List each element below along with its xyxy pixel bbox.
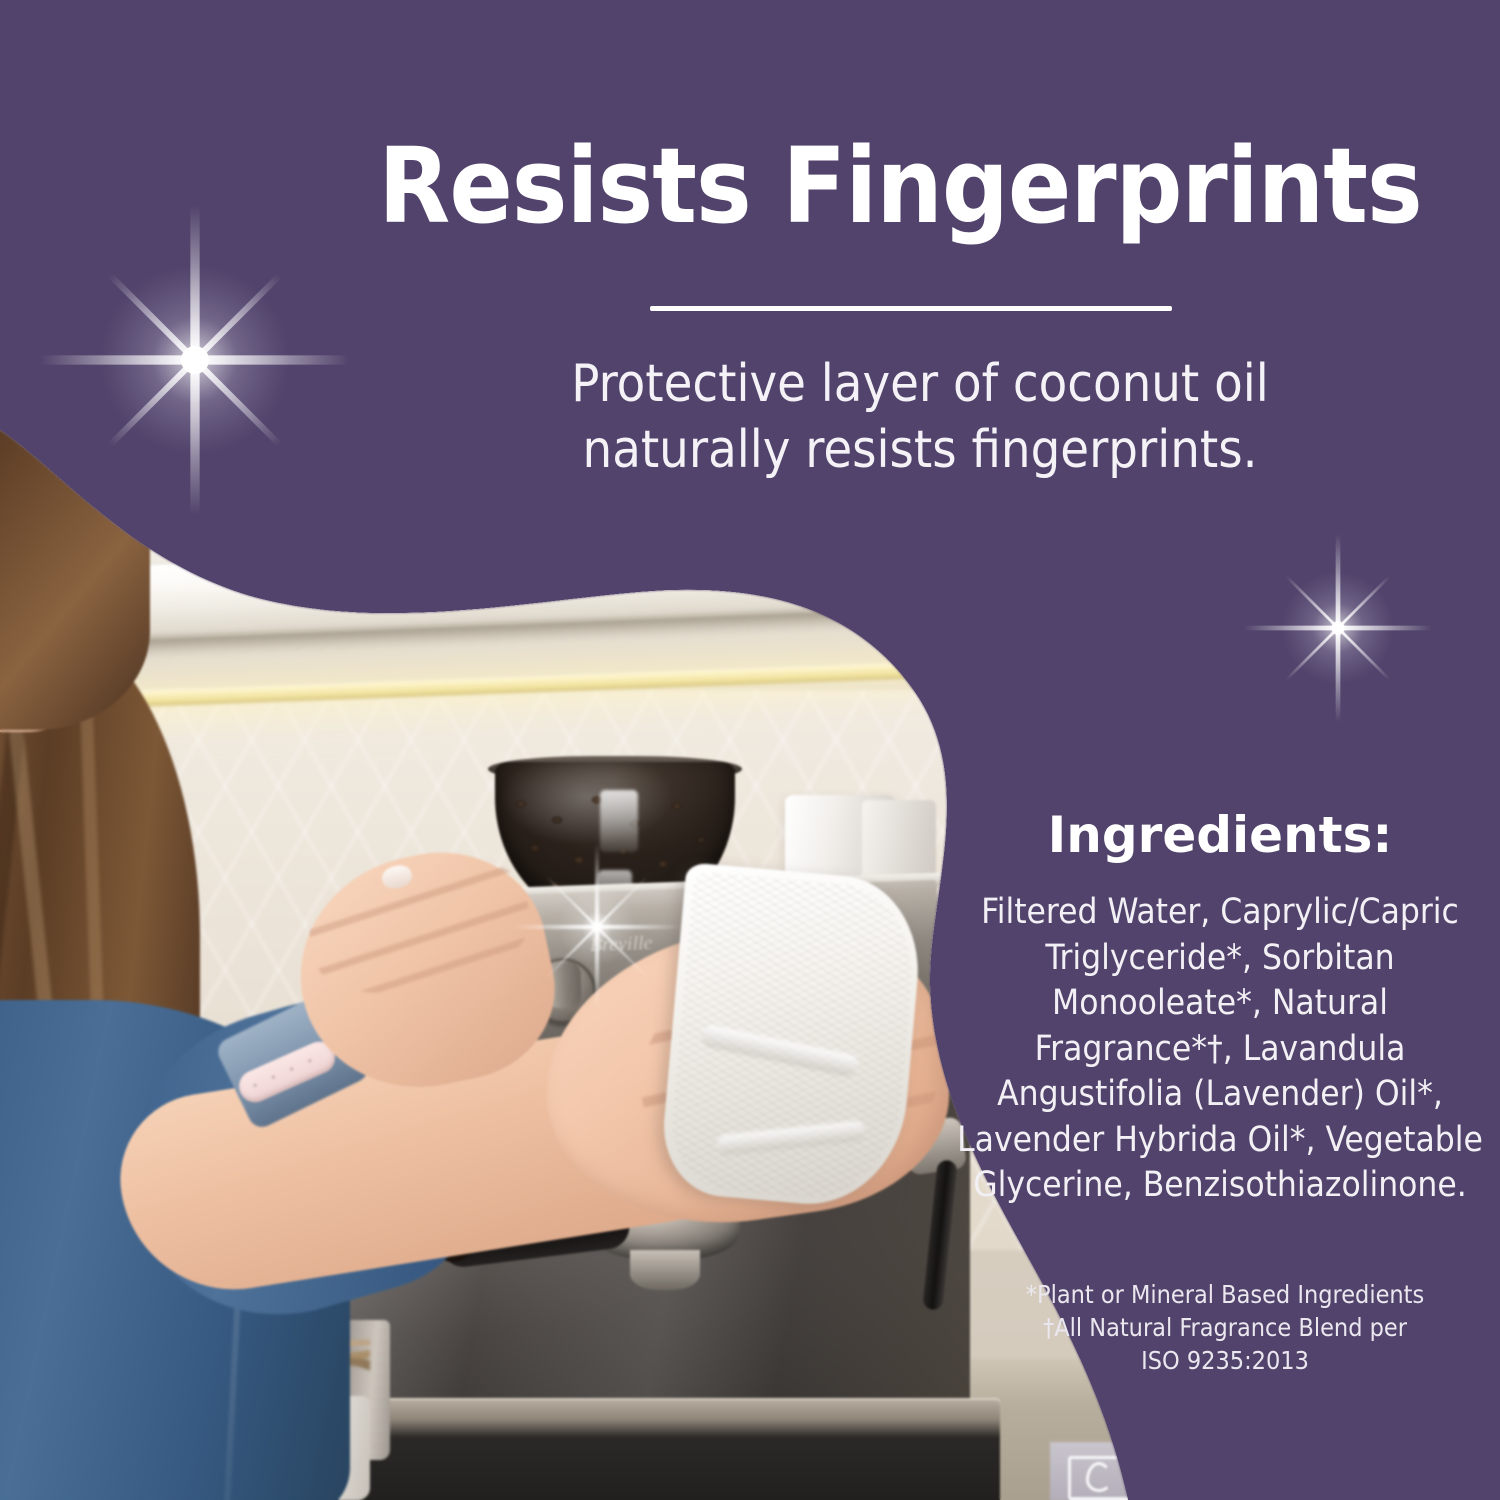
page-title: Resists Fingerprints <box>330 132 1470 252</box>
portafilter-spout <box>630 1250 700 1290</box>
sparkle-icon-top-left <box>40 205 350 515</box>
footnote-fragrance-blend: †All Natural Fragrance Blend per <box>990 1311 1460 1344</box>
subtitle-line-2: naturally resists fingerprints. <box>583 420 1258 480</box>
footnote-iso-standard: ISO 9235:2013 <box>990 1344 1460 1377</box>
sparkle-icon-mid-right <box>1244 534 1432 722</box>
ingredients-heading: Ingredients: <box>960 806 1480 864</box>
infographic-canvas: Breville <box>0 0 1500 1500</box>
ingredient-footnotes: *Plant or Mineral Based Ingredients †All… <box>990 1278 1460 1377</box>
hair-crown <box>0 400 150 730</box>
package-label-outline <box>1068 1456 1160 1500</box>
subtitle-line-1: Protective layer of coconut oil <box>571 354 1268 414</box>
drip-tray <box>300 1400 1000 1500</box>
title-divider <box>650 306 1172 311</box>
package-label-glyph-icon <box>1086 1462 1112 1492</box>
hopper-highlight-upper <box>600 790 638 852</box>
subtitle: Protective layer of coconut oil naturall… <box>470 352 1370 483</box>
ingredients-list: Filtered Water, Caprylic/Capric Triglyce… <box>952 890 1488 1209</box>
footnote-plant-mineral: *Plant or Mineral Based Ingredients <box>990 1278 1460 1311</box>
